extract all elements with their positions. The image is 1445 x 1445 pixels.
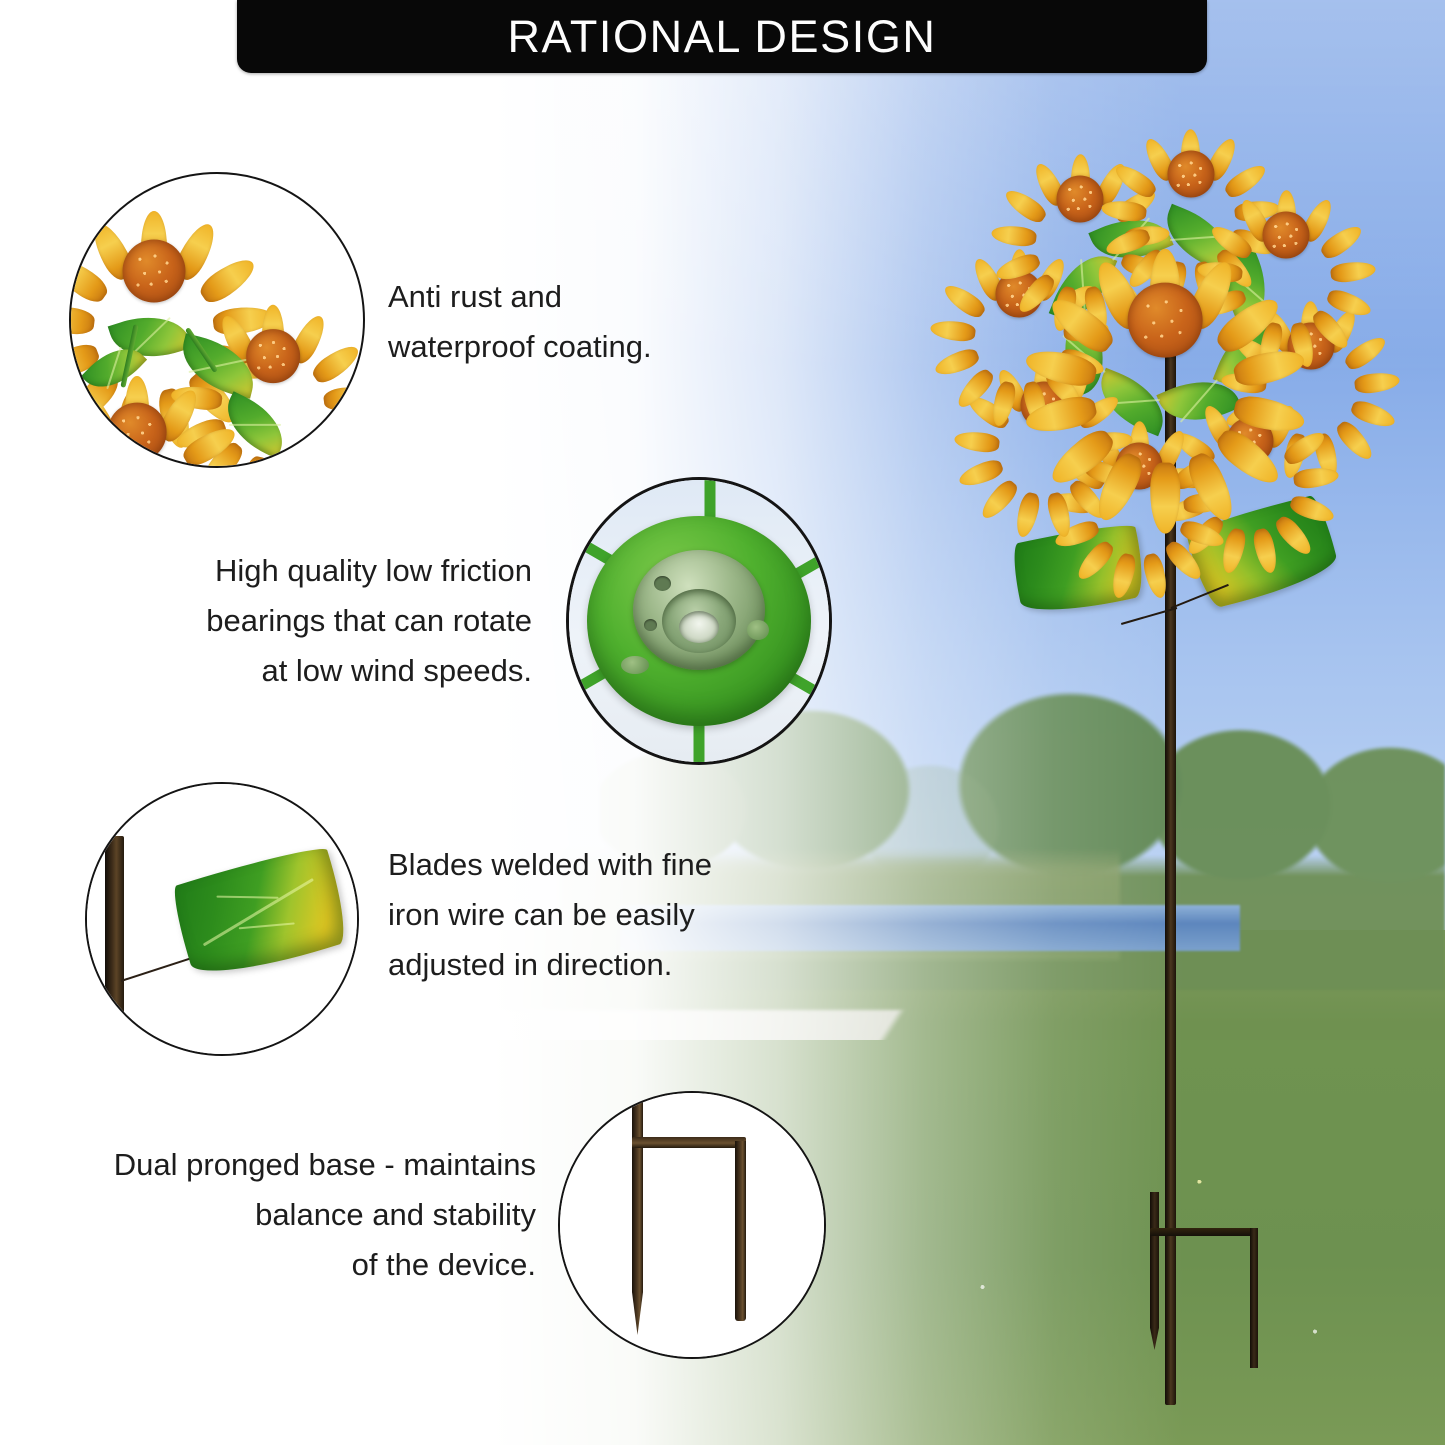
flower-core xyxy=(1167,151,1214,198)
flower-petal xyxy=(1333,418,1377,464)
stake-prong-pointed xyxy=(632,1097,643,1335)
center-sunflower xyxy=(1076,231,1254,409)
leaf-wire-left xyxy=(1121,607,1177,625)
feature-text-dual-prong-base: Dual pronged base - maintains balance an… xyxy=(86,1140,536,1291)
flower-core xyxy=(1263,212,1310,259)
flower-core xyxy=(1128,283,1203,358)
base-backdrop xyxy=(560,1093,824,1357)
flower-petal xyxy=(954,429,1001,453)
flower-petal xyxy=(977,477,1021,523)
closeup-pole xyxy=(105,836,124,1014)
flower-core xyxy=(1057,175,1104,222)
leaf-vein xyxy=(216,896,278,899)
flower-petal xyxy=(1318,221,1366,262)
callout-image-anti-rust xyxy=(69,172,365,468)
hub-lug xyxy=(747,620,769,640)
stake-prong-straight xyxy=(735,1141,746,1321)
base-prong-left xyxy=(1150,1192,1159,1350)
hub-backdrop xyxy=(569,480,829,762)
hub-bolt-hole xyxy=(644,619,657,631)
stake-crossbar xyxy=(632,1137,746,1148)
callout-image-bearings xyxy=(566,477,832,765)
title-banner: RATIONAL DESIGN xyxy=(237,0,1207,73)
leaf-vein xyxy=(239,923,295,930)
flower-petal xyxy=(1013,491,1042,539)
sunflower-rotor xyxy=(950,105,1380,535)
feature-text-bearings: High quality low friction bearings that … xyxy=(176,546,532,697)
flower-petal xyxy=(1150,462,1180,533)
infographic-canvas: RATIONAL DESIGN Anti rust and waterproof… xyxy=(0,0,1445,1445)
page-title: RATIONAL DESIGN xyxy=(507,14,936,59)
callout-image-dual-prong-base xyxy=(558,1091,826,1359)
hub-bore xyxy=(679,611,719,643)
flower-core xyxy=(246,329,300,383)
flower-core xyxy=(108,403,167,462)
flower-petal xyxy=(1288,493,1337,527)
feature-text-welded-blades: Blades welded with fine iron wire can be… xyxy=(388,840,712,991)
callout-image-welded-blades xyxy=(85,782,359,1056)
base-prong-right xyxy=(1250,1228,1258,1368)
flower-core xyxy=(123,240,186,303)
base-crossbar xyxy=(1150,1228,1258,1236)
feature-text-anti-rust: Anti rust and waterproof coating. xyxy=(388,272,652,372)
leaf-midrib xyxy=(203,878,314,946)
flower-petal xyxy=(69,304,96,337)
hub-lug xyxy=(621,656,649,674)
hub-bolt-hole xyxy=(654,576,671,591)
flower-petal xyxy=(1330,260,1377,284)
flower-petal xyxy=(1293,466,1340,490)
